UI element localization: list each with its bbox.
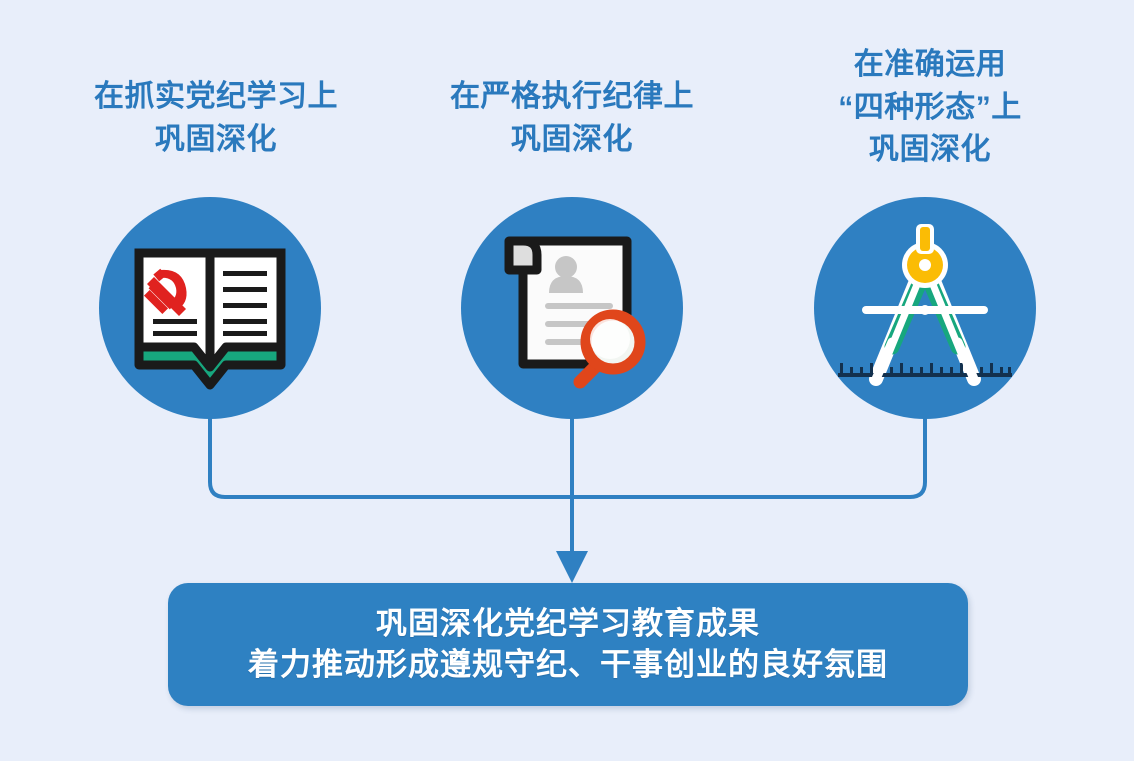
icon-circle-document-inspect [461, 197, 683, 419]
ruler-scale [838, 363, 1012, 377]
result-banner-text: 巩固深化党纪学习教育成果 着力推动形成遵规守纪、干事创业的良好氛围 [248, 604, 888, 686]
result-banner: 巩固深化党纪学习教育成果 着力推动形成遵规守纪、干事创业的良好氛围 [168, 583, 968, 706]
compass-divider-ruler-icon [814, 197, 1036, 419]
icon-circle-open-book [99, 197, 321, 419]
document-magnifier-icon [461, 197, 683, 419]
infographic-root: 在抓实党纪学习上 巩固深化 在严格执行纪律上 巩固深化 在准确运用 “四种形态”… [0, 0, 1134, 761]
icon-circle-compass-divider [814, 197, 1036, 419]
open-book-party-emblem-icon [99, 197, 321, 419]
downward-arrow-icon [556, 551, 588, 583]
